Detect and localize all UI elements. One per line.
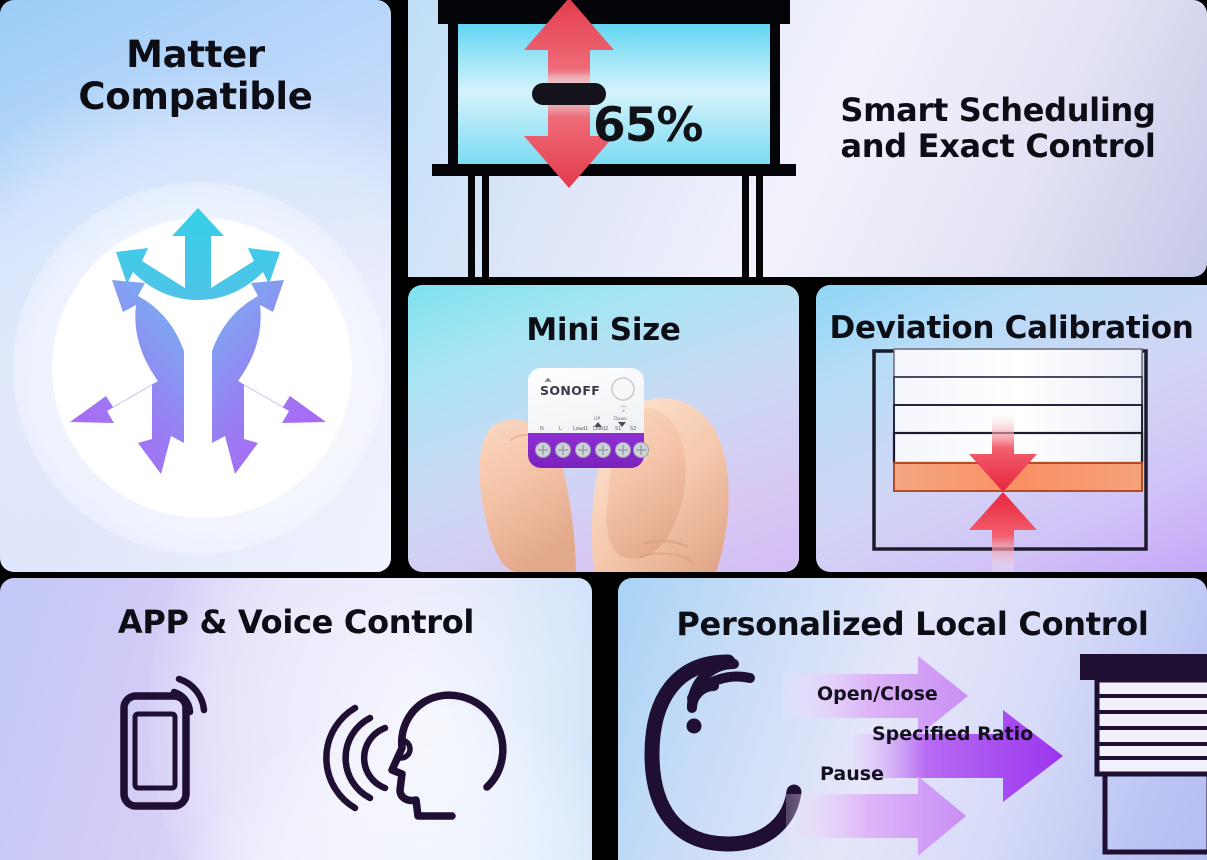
svg-text:SONOFF: SONOFF (540, 383, 600, 398)
infographic-root: Matter Compatible (0, 0, 1207, 860)
svg-text:L: L (559, 426, 562, 432)
panel-title-smart-scheduling: Smart Scheduling and Exact Control (803, 92, 1193, 165)
panel-deviation-calibration: Deviation Calibration (816, 285, 1207, 572)
svg-text:UP: UP (594, 416, 600, 422)
blind-percent-value: 65% (593, 98, 703, 153)
panel-title-deviation-calibration: Deviation Calibration (816, 311, 1207, 346)
blind-headrail (438, 0, 790, 24)
svg-text:S2: S2 (630, 426, 636, 432)
action-label-specified-ratio: Specified Ratio (872, 723, 1033, 745)
svg-text:S1: S1 (615, 426, 621, 432)
panel-app-voice-control: APP & Voice Control (0, 578, 592, 860)
sonoff-device: SONOFF UP Down N L Load1 Load2 S1 (528, 368, 649, 468)
svg-text:Load1: Load1 (573, 426, 588, 432)
svg-text:Load2: Load2 (593, 426, 608, 432)
panel-matter-compatible: Matter Compatible (0, 0, 391, 572)
blind-slats (894, 349, 1142, 463)
action-arrow-pause (786, 776, 966, 856)
speaking-head-icon (326, 695, 502, 816)
blind-bottom-rail (432, 164, 796, 176)
remote-signal-icon (652, 662, 794, 844)
panel-mini-size: SONOFF UP Down N L Load1 Load2 S1 (408, 285, 799, 572)
panel-title-mini-size: Mini Size (408, 313, 799, 348)
panel-personalized-local-control: Open/Close Specified Ratio Pause Persona… (618, 578, 1207, 860)
svg-text:N: N (540, 426, 544, 432)
panel-title-personalized-local-control: Personalized Local Control (618, 606, 1207, 642)
panel-smart-scheduling: 65% Smart Scheduling and Exact Control (408, 0, 1207, 277)
roller-blind-icon (1080, 654, 1207, 852)
smartphone-signal-icon (124, 679, 204, 806)
deviation-calibration-illustration (816, 345, 1207, 572)
action-label-open-close: Open/Close (817, 683, 938, 705)
app-voice-icon-group (0, 658, 592, 860)
svg-text:Down: Down (614, 416, 627, 422)
panel-title-matter: Matter Compatible (0, 34, 391, 118)
panel-title-app-voice: APP & Voice Control (0, 604, 592, 640)
matter-logo-icon (48, 190, 348, 490)
calibration-arrow-up-icon (969, 492, 1037, 572)
action-label-pause: Pause (820, 763, 884, 785)
